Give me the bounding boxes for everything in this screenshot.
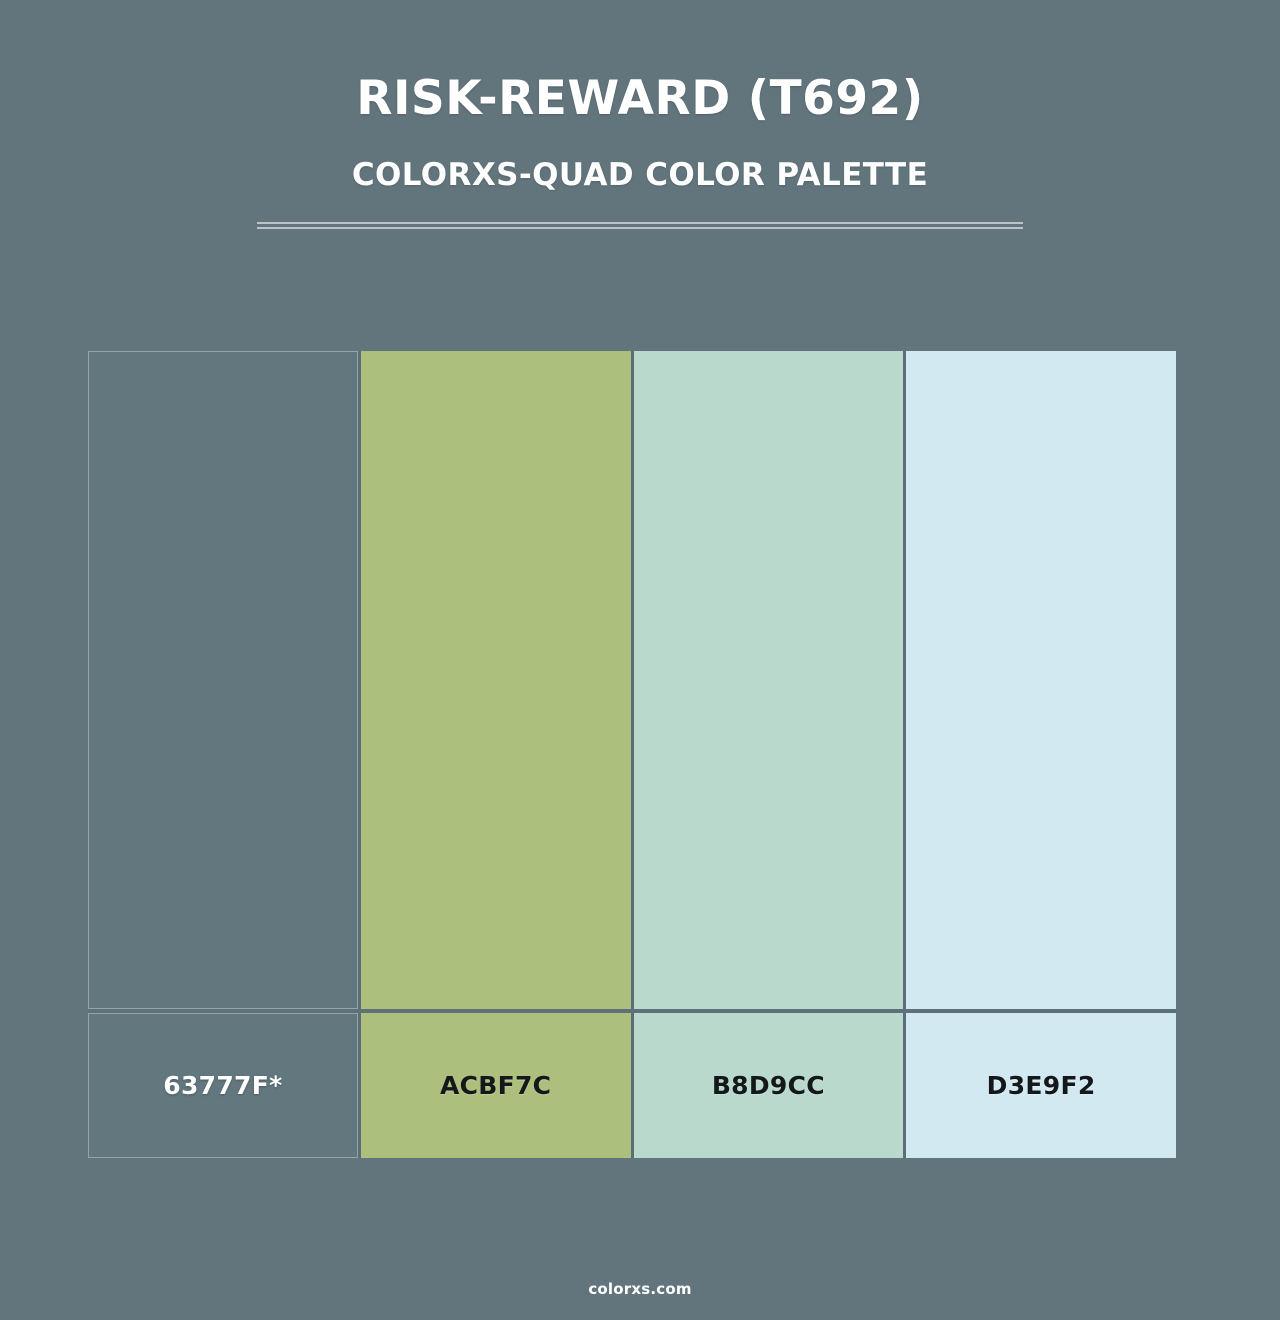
color-swatch[interactable]: [903, 351, 1176, 1009]
color-hex-label: D3E9F2: [987, 1071, 1096, 1100]
color-hex-label: B8D9CC: [712, 1071, 825, 1100]
page-subtitle: COLORXS-QUAD COLOR PALETTE: [0, 123, 1280, 193]
divider-line-top: [257, 222, 1023, 224]
header-divider: [257, 222, 1023, 229]
divider-line-bottom: [257, 227, 1023, 229]
palette-page: RISK-REWARD (T692) COLORXS-QUAD COLOR PA…: [0, 0, 1280, 1320]
color-hex-label: ACBF7C: [440, 1071, 551, 1100]
swatch-row: [88, 351, 1176, 1009]
color-swatch-label-cell[interactable]: 63777F*: [88, 1013, 358, 1158]
color-palette: 63777F*ACBF7CB8D9CCD3E9F2: [88, 351, 1176, 1158]
color-swatch[interactable]: [358, 351, 631, 1009]
label-row: 63777F*ACBF7CB8D9CCD3E9F2: [88, 1013, 1176, 1158]
color-swatch-label-cell[interactable]: B8D9CC: [631, 1013, 904, 1158]
color-swatch-label-cell[interactable]: ACBF7C: [358, 1013, 631, 1158]
color-swatch[interactable]: [631, 351, 904, 1009]
footer-site-label: colorxs.com: [588, 1280, 691, 1298]
color-swatch[interactable]: [88, 351, 358, 1009]
color-hex-label: 63777F*: [163, 1071, 282, 1100]
page-footer: colorxs.com: [0, 1279, 1280, 1298]
color-swatch-label-cell[interactable]: D3E9F2: [903, 1013, 1176, 1158]
page-title: RISK-REWARD (T692): [0, 74, 1280, 123]
page-header: RISK-REWARD (T692) COLORXS-QUAD COLOR PA…: [0, 0, 1280, 229]
